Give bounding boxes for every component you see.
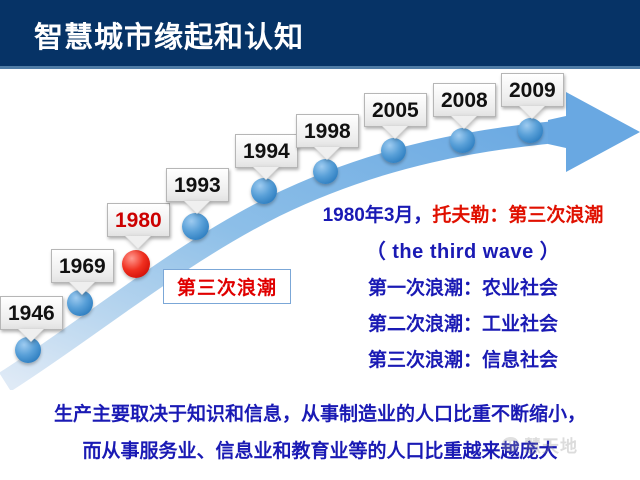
- callout-tail: [451, 116, 477, 129]
- right-text-line-2: （ the third wave ）: [288, 242, 638, 262]
- milestone-year-text: 1969: [59, 255, 106, 278]
- callout-tail: [69, 282, 95, 295]
- milestone-year-text: 2009: [509, 79, 556, 102]
- milestone-year-text: 1980: [115, 209, 162, 232]
- milestone-dot-2009: [518, 118, 543, 143]
- milestone-dot-2008: [450, 128, 475, 153]
- milestone-dot-2005: [381, 138, 406, 163]
- milestone-year-text: 1994: [243, 140, 290, 163]
- callout-tail: [382, 126, 408, 139]
- callout-tail: [125, 236, 151, 249]
- milestone-label-2005: 2005: [364, 93, 427, 127]
- right-text-line-3: 第一次浪潮：农业社会: [288, 279, 638, 298]
- milestone-year-text: 1998: [304, 120, 351, 143]
- milestone-label-1946: 1946: [0, 296, 63, 330]
- right-text-line-1-red: 托夫勒：第三次浪潮: [432, 205, 603, 226]
- callout-tail: [18, 329, 44, 342]
- third-wave-callout-box: 第三次浪潮: [163, 269, 291, 304]
- milestone-label-1993: 1993: [166, 168, 229, 202]
- right-text-line-4: 第二次浪潮：工业社会: [288, 315, 638, 334]
- milestone-dot-1993: [182, 213, 209, 240]
- milestone-year-text: 2005: [372, 99, 419, 122]
- milestone-label-2009: 2009: [501, 73, 564, 107]
- bottom-text-line-2: 而从事服务业、信息业和教育业等的人口比重越来越庞大: [0, 442, 640, 461]
- milestone-year-text: 1946: [8, 302, 55, 325]
- bottom-text-block: 生产主要取决于知识和信息，从事制造业的人口比重不断缩小， 而从事服务业、信息业和…: [0, 405, 640, 479]
- right-text-line-5: 第三次浪潮：信息社会: [288, 351, 638, 370]
- milestone-label-2008: 2008: [433, 83, 496, 117]
- milestone-dot-1994: [251, 178, 277, 204]
- callout-tail: [519, 106, 545, 119]
- right-text-line-1-blue: 1980年3月，: [323, 205, 433, 226]
- callout-tail: [314, 147, 340, 160]
- slide-canvas: 智慧城市缘起和认知 194619691980199319941998200520…: [0, 0, 640, 480]
- banner-underline: [0, 66, 640, 69]
- milestone-year-text: 2008: [441, 89, 488, 112]
- right-text-line-1: 1980年3月，托夫勒：第三次浪潮: [288, 206, 638, 225]
- milestone-label-1969: 1969: [51, 249, 114, 283]
- callout-tail: [253, 167, 279, 180]
- bottom-text-line-1: 生产主要取决于知识和信息，从事制造业的人口比重不断缩小，: [0, 405, 640, 424]
- milestone-year-text: 1993: [174, 174, 221, 197]
- right-text-block: 1980年3月，托夫勒：第三次浪潮 （ the third wave ） 第一次…: [288, 206, 638, 387]
- page-title: 智慧城市缘起和认知: [34, 14, 304, 56]
- milestone-dot-1980: [122, 250, 150, 278]
- milestone-label-1980: 1980: [107, 203, 170, 237]
- milestone-label-1994: 1994: [235, 134, 298, 168]
- callout-tail: [184, 201, 210, 214]
- milestone-dot-1998: [313, 159, 338, 184]
- milestone-label-1998: 1998: [296, 114, 359, 148]
